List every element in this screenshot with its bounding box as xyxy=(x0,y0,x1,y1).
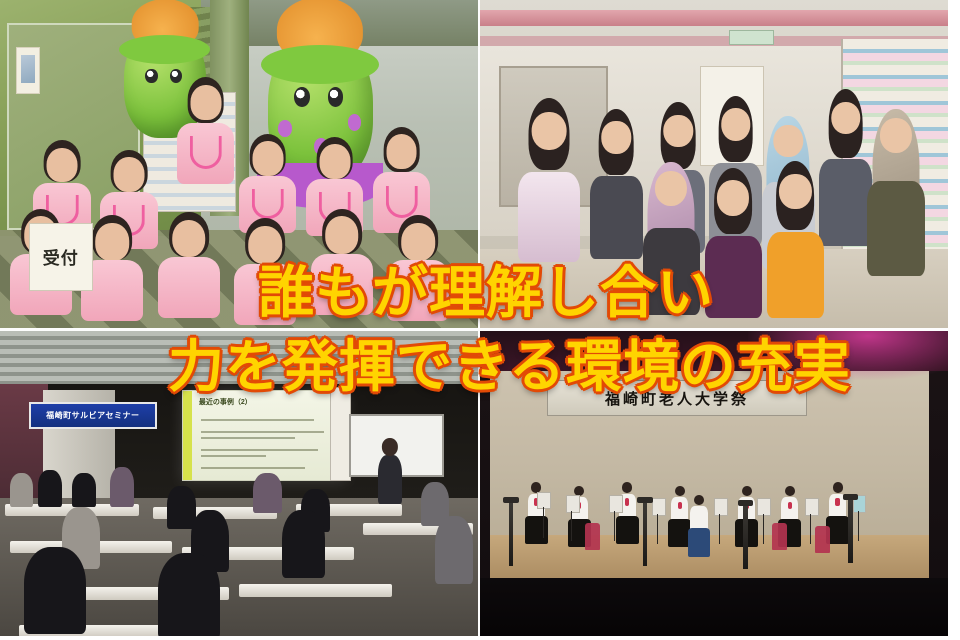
photo-top-left: 受付 xyxy=(0,0,478,328)
performer xyxy=(619,482,636,544)
staff-person xyxy=(177,85,234,183)
red-tie xyxy=(678,502,682,509)
desk xyxy=(239,584,392,596)
performer xyxy=(829,482,846,544)
group-person xyxy=(590,121,643,259)
face xyxy=(386,134,417,169)
group-person-hijab xyxy=(643,171,700,315)
coat xyxy=(867,181,924,275)
face xyxy=(401,223,435,261)
staff-person xyxy=(387,223,449,321)
head xyxy=(694,495,704,505)
stand-pole xyxy=(810,514,811,545)
mascot-eye xyxy=(294,87,310,107)
bottom-margin xyxy=(0,636,960,640)
attendee xyxy=(38,470,62,507)
group-person xyxy=(518,112,580,263)
microphone-stand xyxy=(848,498,853,563)
face xyxy=(47,148,78,183)
mascot-eye xyxy=(145,69,157,83)
mascot-eye xyxy=(328,87,344,107)
staff-person xyxy=(158,220,220,318)
vertical-banner xyxy=(330,387,351,482)
slide-text-line xyxy=(201,455,266,457)
face xyxy=(655,171,687,206)
group-person-hijab xyxy=(867,118,924,275)
stand-pole xyxy=(858,511,859,542)
attendee xyxy=(158,553,220,640)
reception-sign: 受付 xyxy=(29,223,93,291)
stand-pole xyxy=(543,507,544,538)
music-stand xyxy=(757,498,768,544)
music-stand xyxy=(714,498,725,544)
head xyxy=(785,486,795,496)
stand-plate xyxy=(805,498,818,516)
stand-plate xyxy=(537,492,550,510)
group-person xyxy=(767,174,824,318)
stand-pole xyxy=(763,514,764,545)
lanyard xyxy=(251,189,283,220)
stand-plate xyxy=(609,495,622,513)
stand-plate xyxy=(714,498,727,516)
mascot-eye xyxy=(170,69,182,83)
torso xyxy=(819,159,872,246)
attendee xyxy=(10,473,34,507)
projection-screen: 最近の事例（2） xyxy=(182,390,347,482)
slide-text-line xyxy=(201,431,325,433)
music-stand xyxy=(652,498,663,544)
presenter xyxy=(378,455,402,504)
staff-person xyxy=(234,226,296,324)
head xyxy=(742,486,752,496)
performer-seated xyxy=(690,495,707,557)
face xyxy=(249,226,283,264)
photo-collage-grid: 受付 xyxy=(0,0,960,640)
torso xyxy=(767,232,824,319)
music-stand xyxy=(566,495,577,541)
seminar-banner: 福崎町サルビアセミナー xyxy=(29,402,157,429)
head xyxy=(622,482,632,492)
pink-vest xyxy=(311,254,373,315)
face xyxy=(717,180,749,215)
red-tie xyxy=(625,498,629,505)
stand-pole xyxy=(614,511,615,542)
red-tie xyxy=(788,502,792,509)
pink-vest xyxy=(387,260,449,321)
slide-text-line xyxy=(201,449,318,451)
apron xyxy=(518,172,580,263)
face xyxy=(319,144,350,179)
attendee xyxy=(167,486,196,529)
stand-pole xyxy=(571,511,572,542)
slide-text-line xyxy=(201,419,315,421)
stand-plate xyxy=(566,495,579,513)
audience-area xyxy=(480,578,958,640)
music-stand xyxy=(537,492,548,538)
white-blouse xyxy=(690,506,707,531)
right-margin xyxy=(948,0,960,640)
staff-person xyxy=(311,216,373,314)
red-tie xyxy=(835,498,839,505)
music-stand xyxy=(609,495,620,541)
white-blouse xyxy=(781,497,798,522)
slide-title: 最近の事例（2） xyxy=(199,397,252,407)
attendee xyxy=(110,467,134,507)
photo-top-right xyxy=(480,0,958,328)
ceiling-pipe xyxy=(480,10,958,26)
attendee xyxy=(435,516,473,584)
stand-pole xyxy=(719,514,720,545)
slide-text-line xyxy=(201,437,295,439)
torso xyxy=(705,236,762,319)
ceiling-panels xyxy=(0,331,478,384)
stand-plate xyxy=(757,498,770,516)
attendee xyxy=(72,473,96,507)
chair xyxy=(585,523,600,551)
microphone-stand xyxy=(743,504,748,569)
torso xyxy=(643,228,700,315)
white-blouse xyxy=(671,497,688,522)
microphone-stand xyxy=(509,501,514,566)
pink-vest xyxy=(234,264,296,325)
face xyxy=(325,216,359,254)
face xyxy=(779,174,811,209)
face xyxy=(114,157,145,192)
exit-sign xyxy=(729,30,774,45)
photo-bottom-left: 福崎町サルビアセミナー 最近の事例（2） xyxy=(0,331,478,640)
stand-pole xyxy=(657,514,658,545)
trousers xyxy=(688,528,711,556)
face xyxy=(880,118,912,153)
torso xyxy=(590,176,643,259)
stage-light-glow xyxy=(748,331,949,380)
mascot-spot xyxy=(278,120,292,137)
attendee xyxy=(24,547,86,634)
face xyxy=(252,141,283,176)
photo-bottom-right: 福崎町老人大学祭 xyxy=(480,331,958,640)
attendee xyxy=(253,473,282,513)
performer xyxy=(671,486,688,548)
stand-plate xyxy=(652,498,665,516)
collage-banner: 受付 xyxy=(0,0,960,640)
mascot-frill xyxy=(119,35,210,64)
lanyard xyxy=(385,186,417,219)
group-person xyxy=(819,102,872,246)
microphone-stand xyxy=(643,501,648,566)
poster xyxy=(16,47,40,94)
chair xyxy=(815,526,830,554)
mascot-frill xyxy=(261,45,379,84)
face xyxy=(172,220,206,258)
face xyxy=(96,223,130,261)
head xyxy=(833,482,843,492)
slide-text-line xyxy=(201,467,305,469)
face xyxy=(532,112,567,150)
slide-accent-bar xyxy=(183,391,193,481)
chair xyxy=(772,523,787,551)
group-person xyxy=(705,180,762,318)
music-stand xyxy=(853,495,864,541)
pink-vest xyxy=(158,257,220,318)
mascot-spot xyxy=(348,114,362,131)
attendee xyxy=(282,510,325,578)
stage-banner: 福崎町老人大学祭 xyxy=(547,380,807,416)
face xyxy=(190,85,221,120)
lanyard xyxy=(189,136,221,169)
head xyxy=(675,486,685,496)
